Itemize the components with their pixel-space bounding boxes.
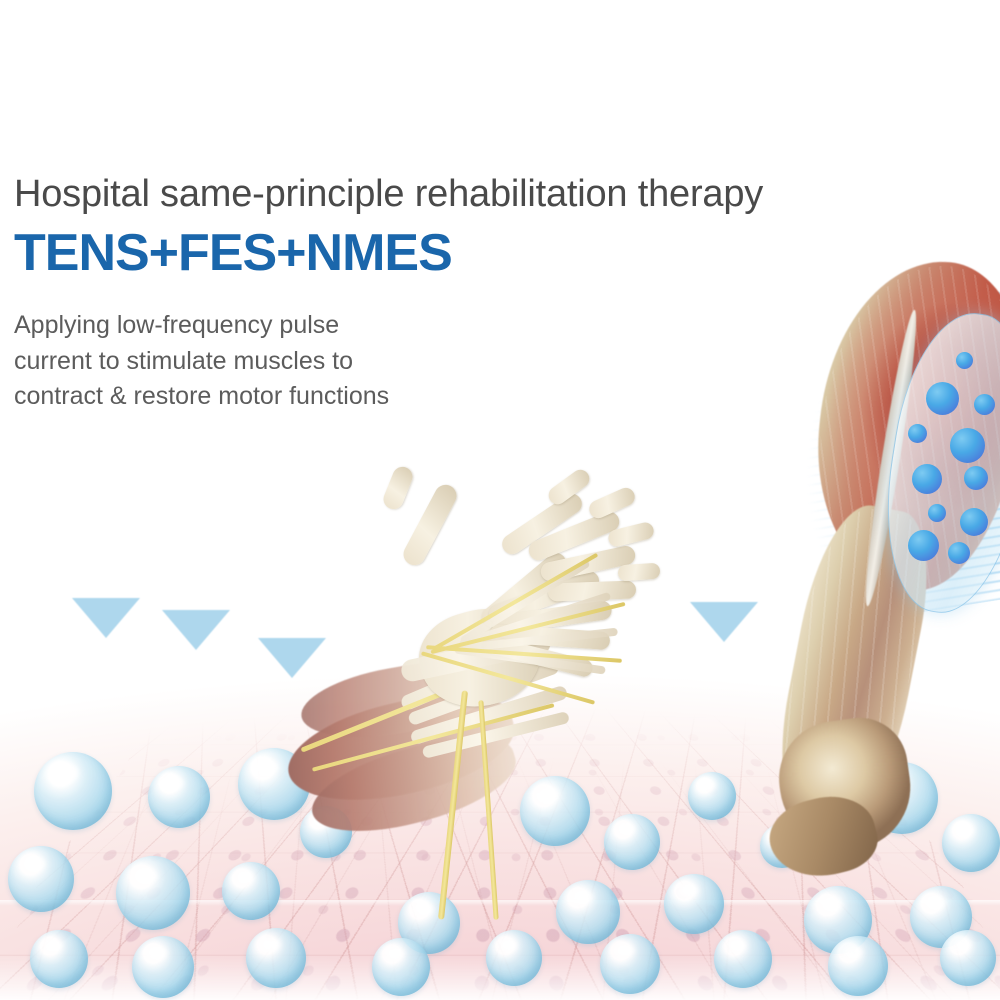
hydration-droplet (940, 930, 996, 986)
stimulation-dot (974, 394, 995, 415)
penetration-arrow-icon (162, 610, 230, 650)
stimulation-dot (956, 352, 973, 369)
hydration-droplet (148, 766, 210, 828)
stimulation-dot (908, 530, 939, 561)
hydration-droplet (372, 938, 430, 996)
hydration-droplet (222, 862, 280, 920)
penetration-arrow-icon (72, 598, 140, 638)
hydration-droplet (132, 936, 194, 998)
stimulation-dot (964, 466, 988, 490)
body-line-3: contract & restore motor functions (14, 379, 763, 415)
hydration-droplet (246, 928, 306, 988)
body-copy: Applying low-frequency pulse current to … (14, 308, 763, 415)
stimulation-dot (912, 464, 942, 494)
calf-leg-anatomy (770, 250, 1000, 890)
finger-little-tip (617, 563, 660, 582)
hydration-droplet (116, 856, 190, 930)
stimulation-dot (948, 542, 970, 564)
hydration-droplet (828, 936, 888, 996)
finger-thumb-tip (380, 464, 415, 512)
stimulation-dot (950, 428, 985, 463)
finger-thumb (400, 481, 461, 569)
body-line-2: current to stimulate muscles to (14, 344, 763, 380)
hydration-droplet (34, 752, 112, 830)
hand-forearm-anatomy (300, 470, 720, 940)
body-line-1: Applying low-frequency pulse (14, 308, 763, 344)
tagline: TENS+FES+NMES (14, 223, 763, 284)
promotional-poster: Hospital same-principle rehabilitation t… (0, 0, 1000, 1000)
stimulation-dot (926, 382, 959, 415)
copy-block: Hospital same-principle rehabilitation t… (14, 172, 763, 415)
stimulation-dot (928, 504, 946, 522)
stimulation-dot (960, 508, 988, 536)
hydration-droplet (8, 846, 74, 912)
hydration-droplet (600, 934, 660, 994)
stimulation-dot (908, 424, 927, 443)
hydration-droplet (30, 930, 88, 988)
stimulation-dot-group (908, 346, 1000, 576)
hydration-droplet (714, 930, 772, 988)
headline: Hospital same-principle rehabilitation t… (14, 172, 763, 217)
